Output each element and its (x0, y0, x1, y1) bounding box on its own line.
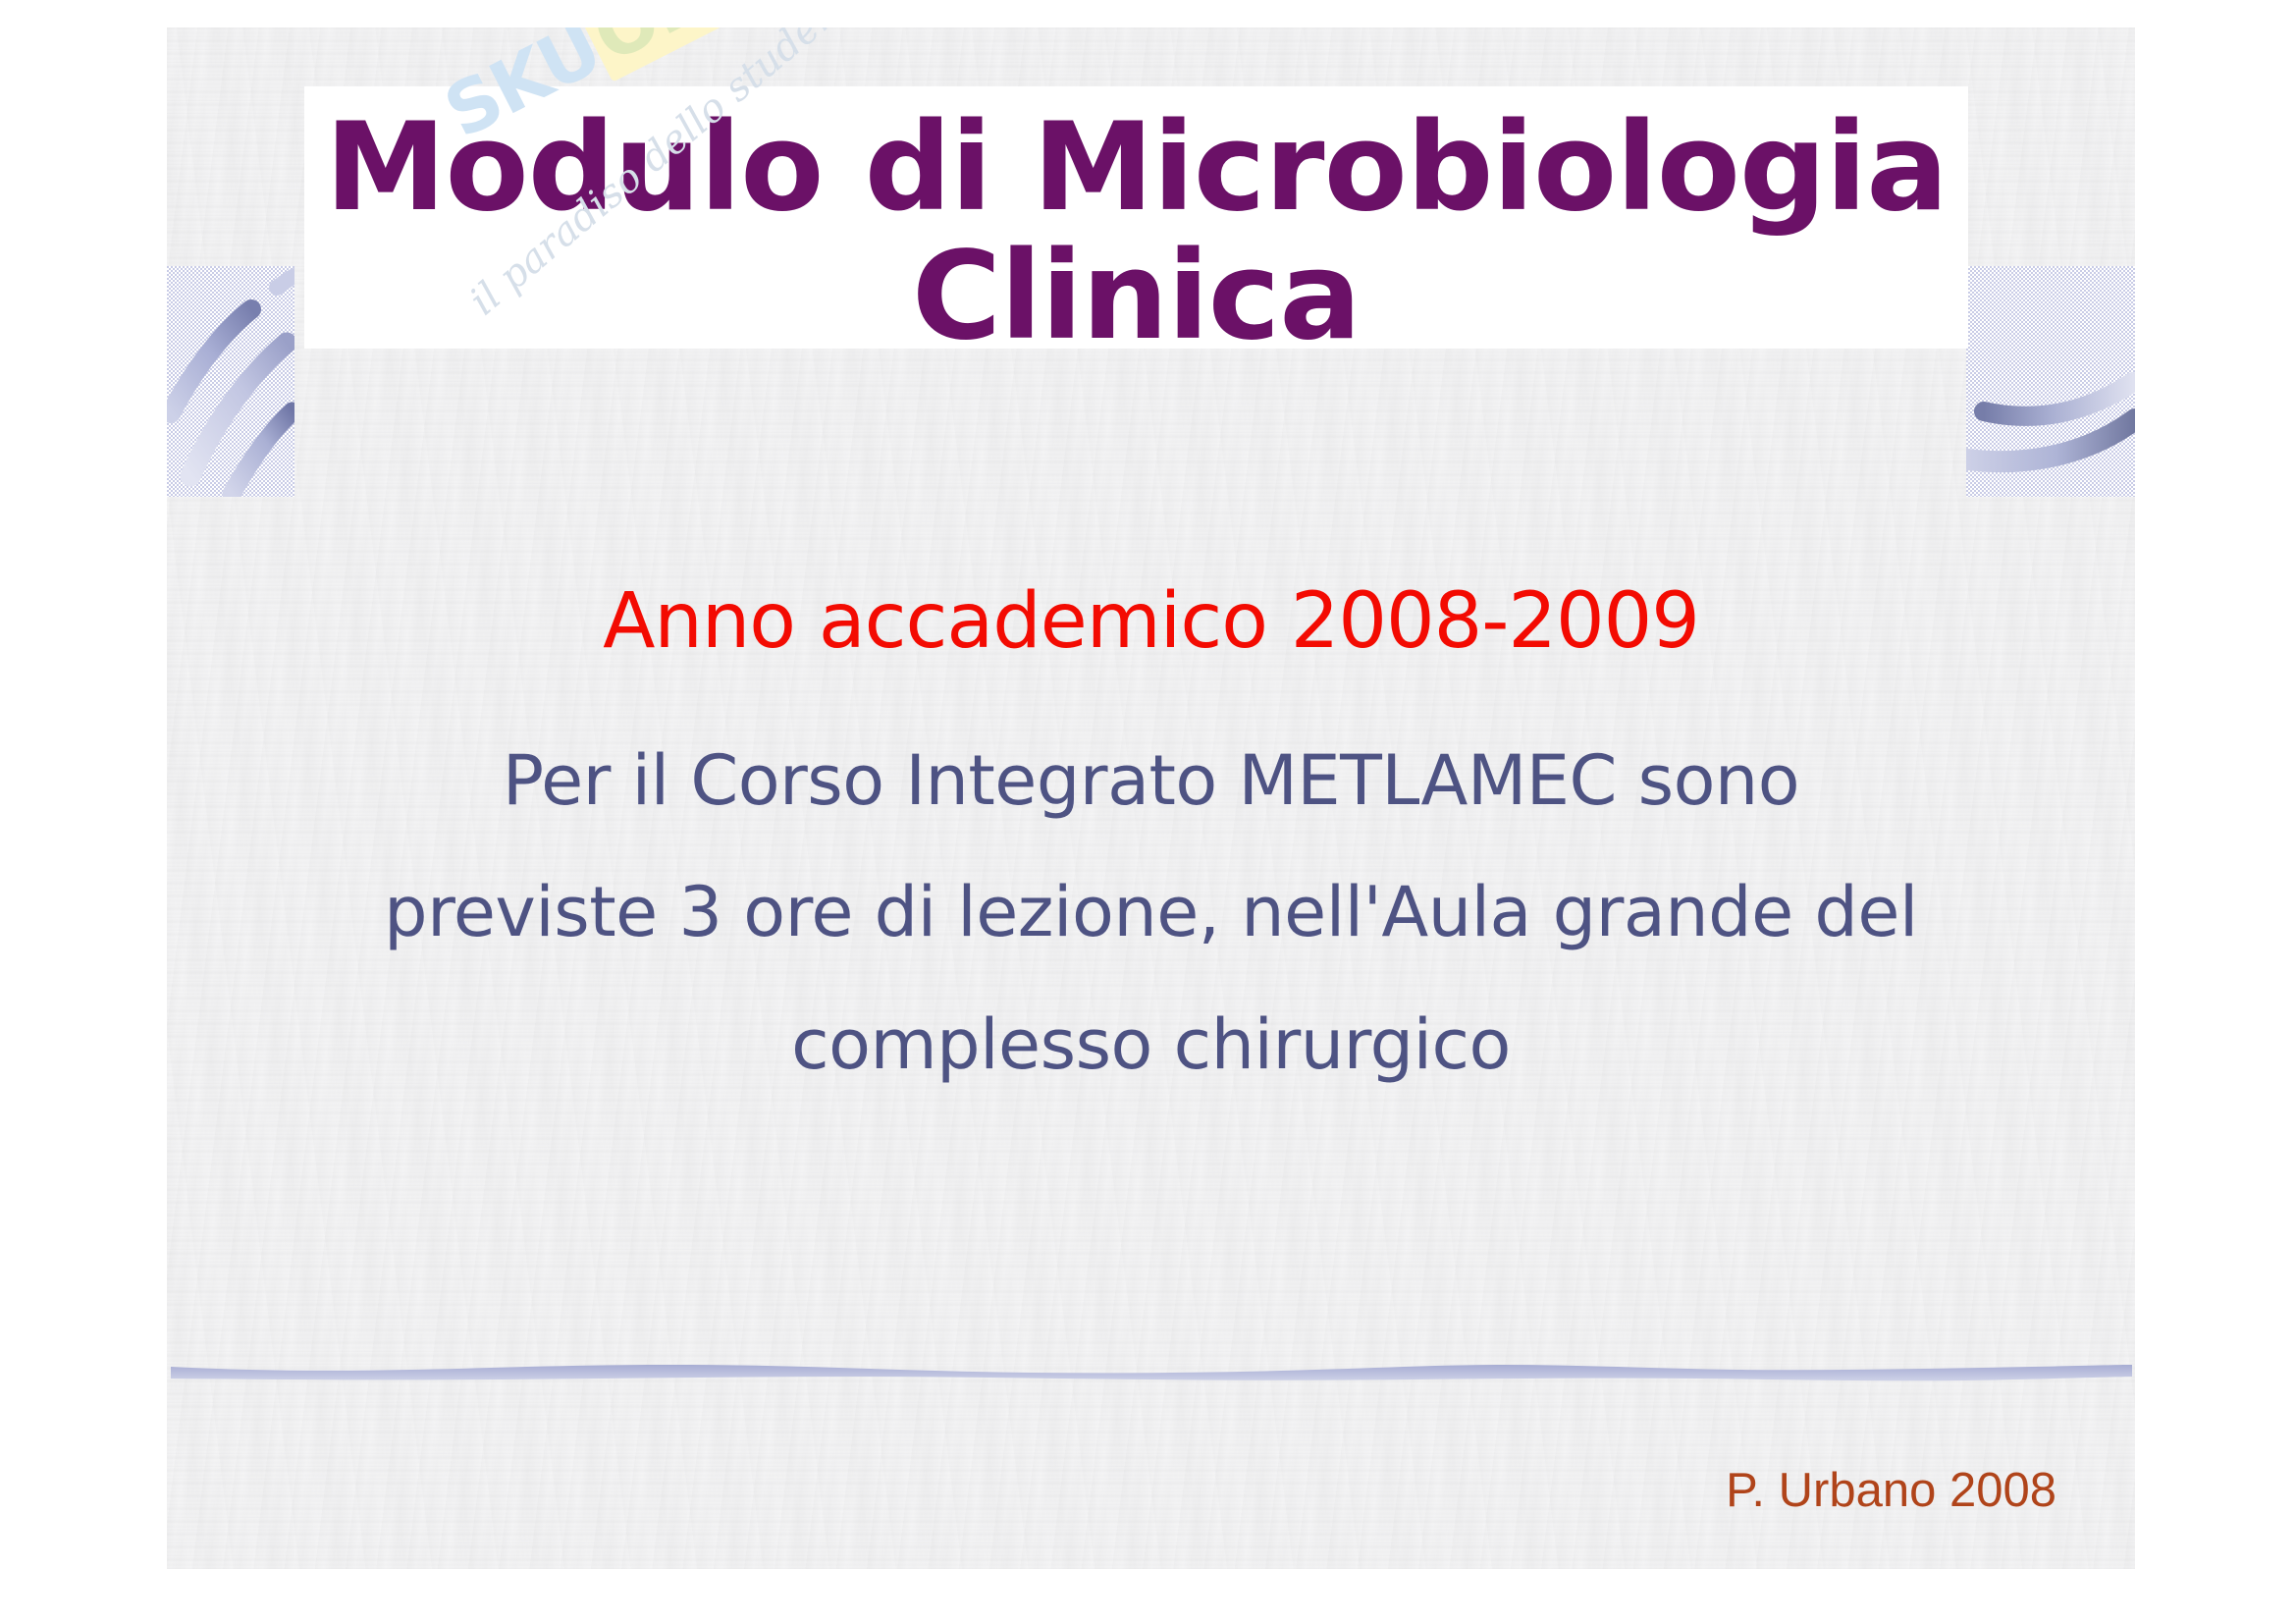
body-line-3: complesso chirurgico (206, 979, 2096, 1110)
watermark-logo-part2: OLA (575, 27, 765, 81)
body-line-2: previste 3 ore di lezione, nell'Aula gra… (206, 846, 2096, 978)
slide-body-text: Per il Corso Integrato METLAMEC sono pre… (206, 715, 2096, 1110)
slide-canvas: SKUOLA.net il paradiso dello studente Mo… (167, 27, 2135, 1569)
slide-title: Modulo di Microbiologia Clinica (304, 104, 1968, 362)
body-line-1: Per il Corso Integrato METLAMEC sono (206, 715, 2096, 846)
swoosh-decoration-left-icon (167, 266, 294, 497)
swoosh-decoration-right-icon (1966, 266, 2135, 497)
slide-root: SKUOLA.net il paradiso dello studente Mo… (0, 0, 2296, 1623)
wave-divider-icon (167, 1351, 2135, 1392)
academic-year-subtitle: Anno accademico 2008-2009 (167, 577, 2135, 666)
author-credit: P. Urbano 2008 (1726, 1463, 2056, 1518)
